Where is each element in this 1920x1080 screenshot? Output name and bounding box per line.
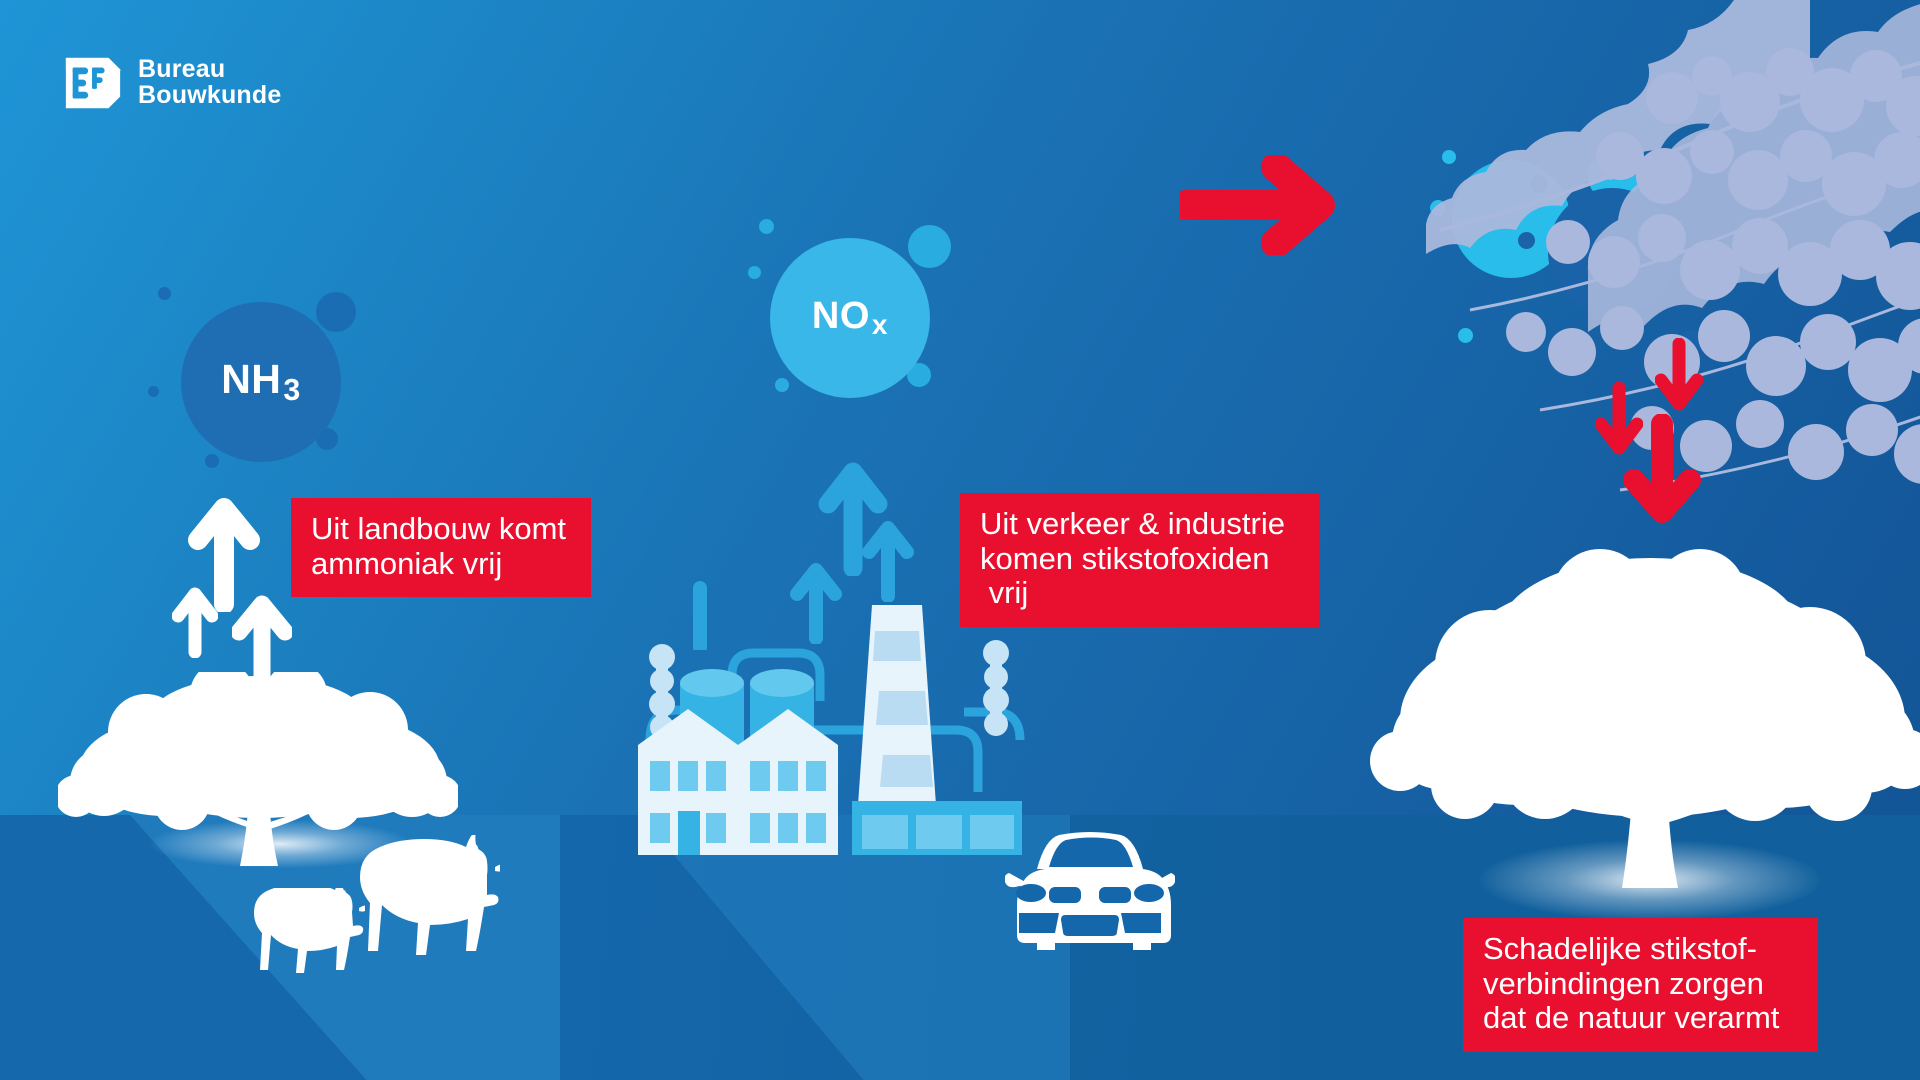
- callout-line: Uit landbouw komt: [311, 512, 571, 547]
- calf-icon: [235, 888, 365, 978]
- red-right-arrow-icon: [1180, 155, 1350, 255]
- factory-icon: [620, 605, 1040, 855]
- molecule-bubble-nox[interactable]: NOx: [770, 238, 930, 398]
- decorative-dot: [205, 454, 219, 468]
- brand-logo[interactable]: Bureau Bouwkunde: [62, 52, 281, 114]
- brand-line-2: Bouwkunde: [138, 83, 281, 109]
- callout-line: komen stikstofoxiden: [980, 542, 1300, 577]
- decorative-dot: [775, 378, 789, 392]
- callout-verkeer-industrie[interactable]: Uit verkeer & industrie komen stikstofox…: [960, 493, 1320, 627]
- brand-logo-text: Bureau Bouwkunde: [138, 57, 281, 109]
- callout-line: Schadelijke stikstof-: [1483, 932, 1798, 967]
- callout-line: Uit verkeer & industrie: [980, 507, 1300, 542]
- callout-line: ammoniak vrij: [311, 547, 571, 582]
- callout-line: verbindingen zorgen: [1483, 967, 1798, 1002]
- molecule-label-nox: NOx: [812, 295, 888, 341]
- decorative-dot: [148, 386, 159, 397]
- molecule-label-nh3: NH3: [221, 356, 301, 408]
- callout-landbouw[interactable]: Uit landbouw komt ammoniak vrij: [291, 498, 591, 597]
- brand-line-1: Bureau: [138, 57, 281, 83]
- decorative-dot: [316, 292, 356, 332]
- white-up-arrow-icon: [172, 578, 218, 658]
- callout-line: dat de natuur verarmt: [1483, 1001, 1798, 1036]
- callout-natuur-verarmt[interactable]: Schadelijke stikstof- verbindingen zorge…: [1463, 918, 1818, 1052]
- decorative-dot: [748, 266, 761, 279]
- red-down-arrow-icon: [1622, 414, 1702, 534]
- white-oak-tree-icon: [1370, 545, 1920, 895]
- car-front-icon: [1005, 825, 1175, 950]
- infographic-canvas: Bureau Bouwkunde NH3 NOx: [0, 0, 1920, 1080]
- molecule-bubble-nh3[interactable]: NH3: [181, 302, 341, 462]
- decorative-dot: [908, 225, 951, 268]
- white-up-arrow-icon: [232, 586, 292, 686]
- bureau-bouwkunde-logo-icon: [62, 52, 124, 114]
- blue-up-arrow-icon: [862, 510, 914, 602]
- callout-line: vrij: [980, 576, 1300, 611]
- red-down-arrow-icon: [1655, 338, 1703, 418]
- decorative-dot: [759, 219, 774, 234]
- decorative-dot: [158, 287, 171, 300]
